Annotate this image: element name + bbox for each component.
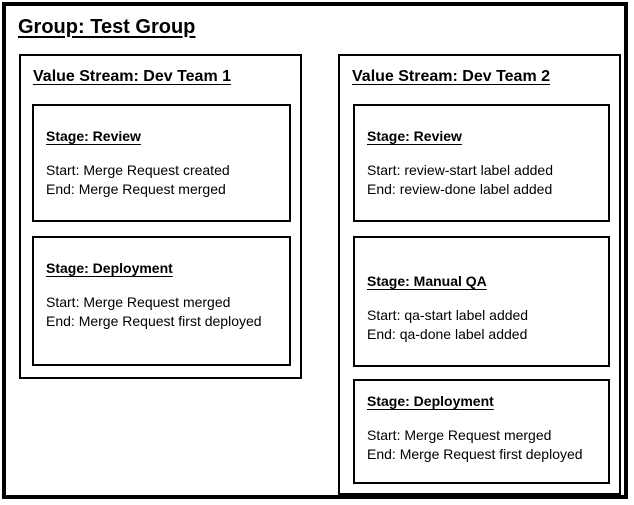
- stage-title: Stage: Deployment: [367, 393, 494, 409]
- stage-details: Start: Merge Request merged End: Merge R…: [367, 426, 600, 464]
- stage-end-label: End: review-done label added: [367, 180, 600, 199]
- stage-start-label: Start: qa-start label added: [367, 306, 600, 325]
- stage-start-label: Start: review-start label added: [367, 161, 600, 180]
- stage-start-label: Start: Merge Request created: [46, 161, 281, 180]
- stage-title: Stage: Manual QA: [367, 273, 487, 289]
- stage-start-label: Start: Merge Request merged: [46, 293, 281, 312]
- group-container: Group: Test Group Value Stream: Dev Team…: [2, 2, 628, 499]
- value-stream-title: Value Stream: Dev Team 1: [33, 68, 231, 86]
- value-stream-title: Value Stream: Dev Team 2: [352, 68, 550, 86]
- stage-card: Stage: Review Start: review-start label …: [353, 104, 610, 222]
- value-stream-card: Value Stream: Dev Team 2 Stage: Review S…: [338, 54, 621, 495]
- stage-card: Stage: Deployment Start: Merge Request m…: [353, 379, 610, 484]
- stage-card: Stage: Deployment Start: Merge Request m…: [32, 236, 291, 366]
- stage-title: Stage: Deployment: [46, 260, 173, 276]
- value-stream-card: Value Stream: Dev Team 1 Stage: Review S…: [19, 54, 302, 379]
- stage-title: Stage: Review: [367, 128, 462, 144]
- stage-details: Start: Merge Request merged End: Merge R…: [46, 293, 281, 331]
- stage-card: Stage: Manual QA Start: qa-start label a…: [353, 236, 610, 367]
- stage-details: Start: Merge Request created End: Merge …: [46, 161, 281, 199]
- stage-card: Stage: Review Start: Merge Request creat…: [32, 104, 291, 222]
- stage-end-label: End: Merge Request first deployed: [367, 445, 600, 464]
- stage-details: Start: review-start label added End: rev…: [367, 161, 600, 199]
- stage-end-label: End: Merge Request first deployed: [46, 312, 281, 331]
- stage-start-label: Start: Merge Request merged: [367, 426, 600, 445]
- stage-end-label: End: qa-done label added: [367, 325, 600, 344]
- stage-end-label: End: Merge Request merged: [46, 180, 281, 199]
- stage-details: Start: qa-start label added End: qa-done…: [367, 306, 600, 344]
- value-stream-list: Value Stream: Dev Team 1 Stage: Review S…: [6, 6, 624, 495]
- stage-title: Stage: Review: [46, 128, 141, 144]
